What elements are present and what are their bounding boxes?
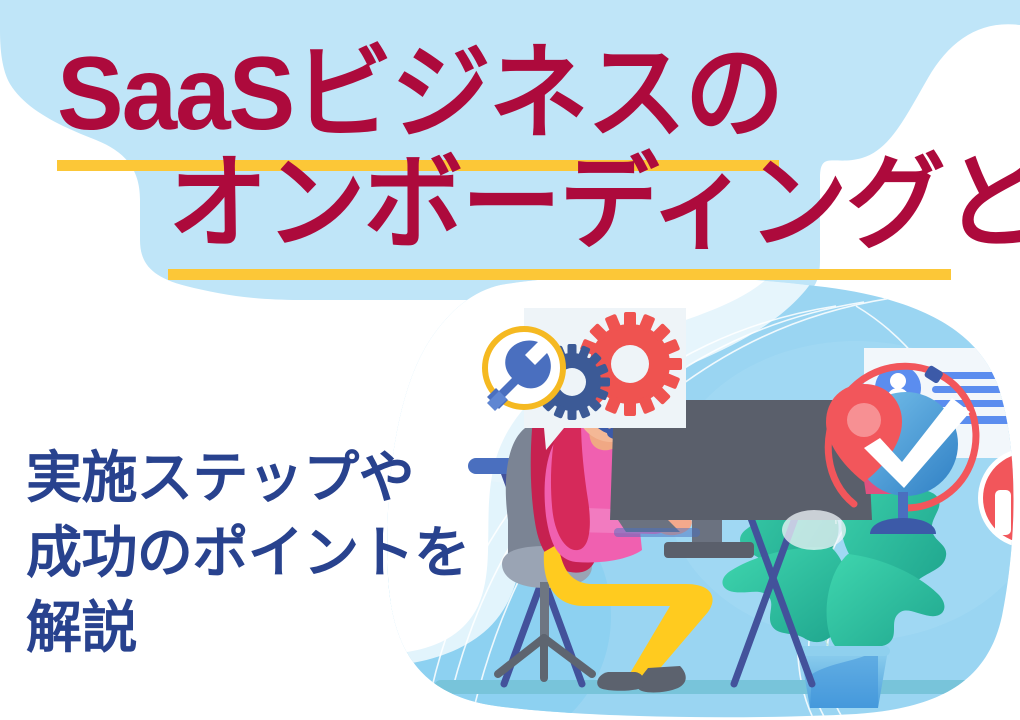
floor-bar xyxy=(434,680,972,694)
subtitle-line-1: 実施ステップや xyxy=(26,440,470,515)
headline: SaaSビジネスの オンボーディングとは？ xyxy=(0,0,1020,300)
subtitle-line-3: 解説 xyxy=(26,590,470,665)
illustration-body xyxy=(386,276,1020,720)
subtitle: 実施ステップや 成功のポイントを 解説 xyxy=(26,440,470,665)
subtitle-line-2: 成功のポイントを xyxy=(26,515,470,590)
monitor-stand-base xyxy=(664,542,754,558)
headline-line-1: SaaSビジネスの xyxy=(57,42,782,146)
desk-object-blur xyxy=(782,510,846,550)
hero-illustration xyxy=(386,276,1020,720)
poster-canvas: SaaSビジネスの オンボーディングとは？ xyxy=(0,0,1020,720)
keyboard xyxy=(614,528,700,537)
headline-line-2: オンボーディングとは？ xyxy=(168,152,1020,256)
wrench-badge-icon xyxy=(485,329,563,411)
